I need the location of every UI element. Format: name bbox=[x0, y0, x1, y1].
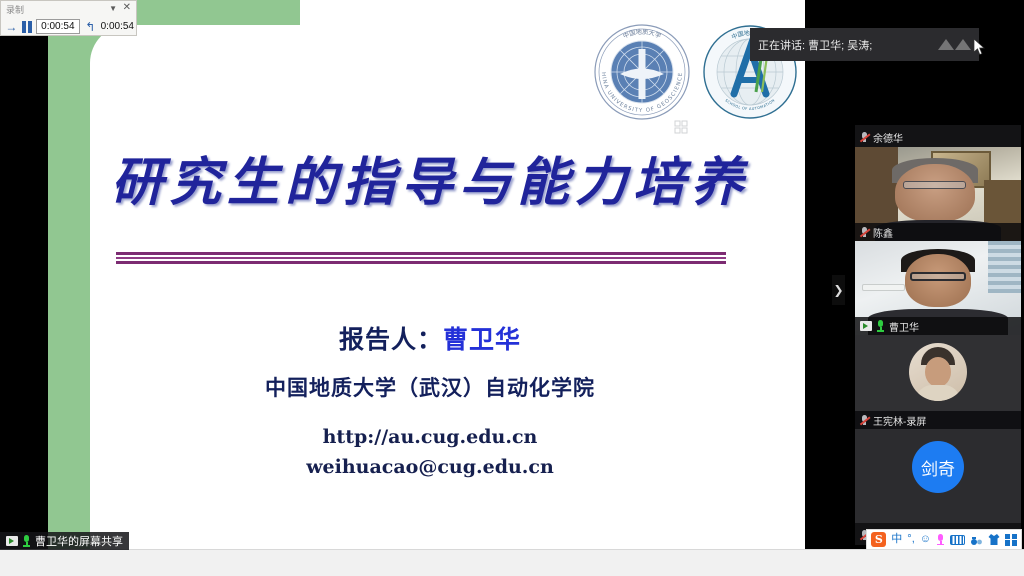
microphone-muted-icon bbox=[860, 227, 869, 238]
collapse-sidebar-button[interactable]: ❯ bbox=[832, 275, 845, 305]
cug-seal-logo: 中国地质大学 CHINA UNIVERSITY OF GEOSCIENCES bbox=[592, 22, 692, 122]
participant-namebar: 余德华 bbox=[855, 128, 1021, 146]
sogou-ime-toolbar[interactable]: S 中 °, ☺ bbox=[866, 529, 1022, 550]
presenter-line: 报告人：曹卫华 bbox=[100, 320, 760, 356]
participant-name: 余德华 bbox=[873, 130, 903, 145]
microphone-on-icon bbox=[876, 320, 885, 332]
website-url: http://au.cug.edu.cn bbox=[100, 426, 760, 448]
avatar bbox=[909, 343, 967, 401]
keyboard-icon[interactable] bbox=[950, 535, 965, 545]
participant-tile[interactable]: 王宪林-录屏 bbox=[855, 335, 1021, 429]
slide-title: 研究生的指导与能力培养 bbox=[100, 140, 760, 215]
microphone-muted-icon bbox=[860, 132, 869, 143]
participant-tile[interactable]: 余德华 bbox=[855, 125, 1021, 147]
pause-icon[interactable] bbox=[22, 21, 32, 33]
participant-namebar: 曹卫华 bbox=[855, 317, 1021, 335]
next-slide-icon[interactable]: → bbox=[5, 20, 18, 34]
participant-name: 陈鑫 bbox=[873, 225, 893, 240]
participant-tile-active-speaker[interactable]: 曹卫华 bbox=[855, 241, 1021, 335]
svg-text:中国地质大学: 中国地质大学 bbox=[622, 28, 663, 40]
speaking-banner: 正在讲话: 曹卫华; 吴涛; bbox=[750, 28, 979, 61]
decorative-mark-icon bbox=[674, 120, 688, 134]
apps-grid-icon[interactable] bbox=[1005, 534, 1017, 546]
speaking-banner-text: 正在讲话: 曹卫华; 吴涛; bbox=[758, 37, 872, 53]
participant-tile[interactable]: 剑奇 bbox=[855, 429, 1021, 523]
participant-namebar: 王宪林-录屏 bbox=[855, 411, 1021, 429]
audio-wave-icon bbox=[938, 39, 971, 50]
screen-share-indicator[interactable]: 曹卫华的屏幕共享 bbox=[0, 532, 129, 550]
participant-name: 王宪林-录屏 bbox=[873, 413, 926, 428]
screen: 中国地质大学 CHINA UNIVERSITY OF GEOSCIENCES bbox=[0, 0, 1024, 576]
participant-tile[interactable]: 陈鑫 bbox=[855, 147, 1021, 241]
screen-share-icon bbox=[860, 321, 872, 331]
shared-screen-area: 中国地质大学 CHINA UNIVERSITY OF GEOSCIENCES bbox=[0, 0, 845, 549]
emoji-icon[interactable]: ☺ bbox=[920, 534, 931, 545]
screen-share-label: 曹卫华的屏幕共享 bbox=[35, 533, 123, 549]
ime-punctuation-toggle[interactable]: °, bbox=[907, 534, 914, 545]
voice-input-icon[interactable] bbox=[970, 534, 983, 546]
email-address: weihuacao@cug.edu.cn bbox=[100, 456, 760, 478]
participant-sidebar: 正在讲话: 曹卫华; 吴涛; ❯ 余德华 陈鑫 bbox=[845, 0, 1024, 549]
avatar-initials: 剑奇 bbox=[912, 441, 964, 493]
microphone-muted-icon bbox=[860, 415, 869, 426]
chevron-down-icon[interactable]: ▼ bbox=[109, 4, 117, 13]
powerpoint-slide[interactable]: 中国地质大学 CHINA UNIVERSITY OF GEOSCIENCES bbox=[48, 0, 805, 549]
mouse-cursor bbox=[973, 38, 985, 56]
total-timer: 0:00:54 bbox=[101, 21, 134, 32]
ime-language-toggle[interactable]: 中 bbox=[891, 534, 902, 545]
skin-icon[interactable] bbox=[988, 533, 1000, 546]
slide-timer[interactable]: 0:00:54 bbox=[36, 19, 80, 34]
presenter-label: 报告人： bbox=[339, 326, 443, 354]
microphone-icon[interactable] bbox=[936, 534, 945, 546]
taskbar: 曹卫华的屏幕共享 S 中 °, ☺ bbox=[0, 549, 1024, 576]
screen-share-icon bbox=[6, 536, 18, 546]
presenter-name: 曹卫华 bbox=[443, 326, 521, 354]
participant-name: 曹卫华 bbox=[889, 319, 919, 334]
recording-controls-row: → 0:00:54 ↰ 0:00:54 bbox=[1, 17, 138, 36]
recording-toolbar[interactable]: 录制 ▼ ✕ → 0:00:54 ↰ 0:00:54 bbox=[0, 0, 137, 36]
affiliation: 中国地质大学（武汉）自动化学院 bbox=[100, 372, 760, 402]
close-icon[interactable]: ✕ bbox=[123, 2, 131, 13]
participant-namebar: 陈鑫 bbox=[855, 223, 1021, 241]
slide-divider bbox=[116, 252, 726, 264]
reset-icon[interactable]: ↰ bbox=[84, 20, 97, 34]
microphone-on-icon bbox=[22, 535, 31, 547]
recording-toolbar-title: 录制 bbox=[6, 3, 24, 16]
sogou-logo-icon[interactable]: S bbox=[871, 532, 886, 547]
